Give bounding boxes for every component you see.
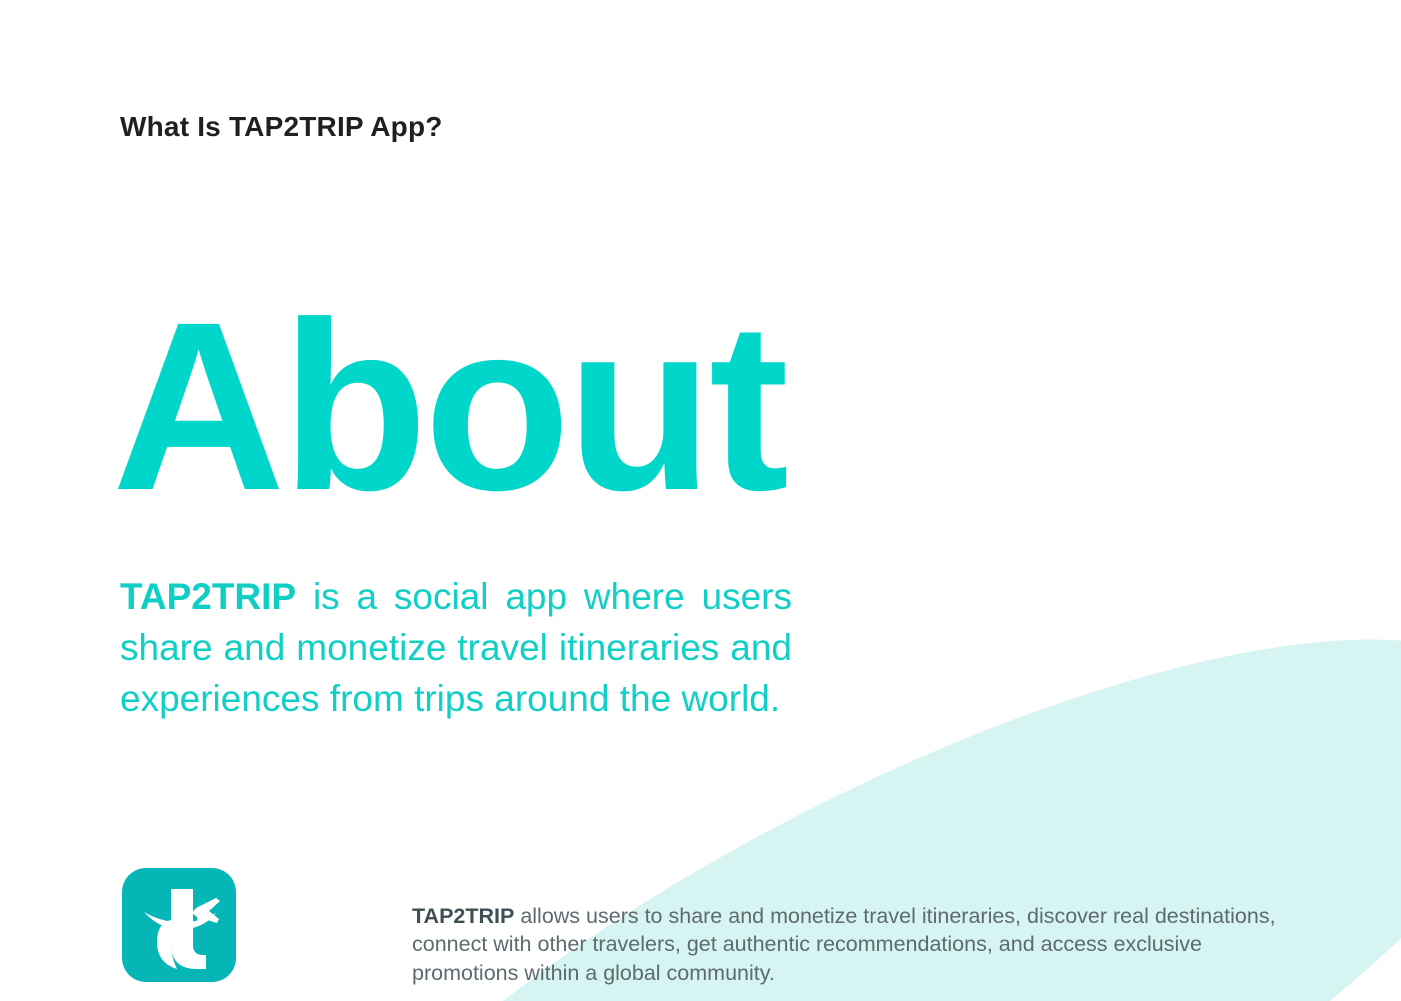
tap2trip-t-airplane-icon xyxy=(122,868,236,982)
lede-paragraph: TAP2TRIP is a social app where users sha… xyxy=(120,571,792,724)
footer-description: TAP2TRIP allows users to share and monet… xyxy=(412,902,1297,988)
slide-canvas: What Is TAP2TRIP App? About TAP2TRIP is … xyxy=(0,0,1401,1001)
footer-brand-name: TAP2TRIP xyxy=(412,904,514,928)
footer-body-text: allows users to share and monetize trave… xyxy=(412,904,1276,985)
section-eyebrow-heading: What Is TAP2TRIP App? xyxy=(120,110,443,144)
lede-brand-name: TAP2TRIP xyxy=(120,576,296,617)
page-title: About xyxy=(112,286,785,526)
app-logo xyxy=(122,868,236,982)
